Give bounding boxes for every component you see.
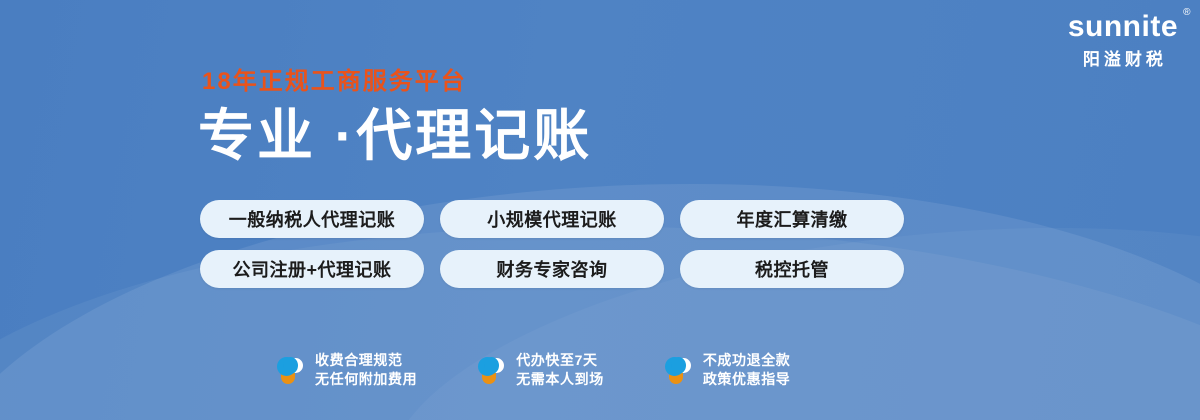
- logo-wordmark: sunnite ®: [1068, 12, 1178, 42]
- feature-line-1: 代办快至7天: [516, 351, 604, 370]
- feature-line-2: 政策优惠指导: [703, 370, 791, 389]
- eclipse-icon-crescent: [676, 358, 691, 373]
- feature-text: 不成功退全款 政策优惠指导: [703, 351, 791, 389]
- feature-item: 代办快至7天 无需本人到场: [477, 351, 604, 389]
- feature-line-2: 无任何附加费用: [315, 370, 417, 389]
- eclipse-icon-crescent: [489, 358, 504, 373]
- registered-trademark-icon: ®: [1183, 8, 1191, 18]
- headline-block: 18年正规工商服务平台 专业 ·代理记账: [198, 70, 592, 164]
- feature-item: 不成功退全款 政策优惠指导: [664, 351, 791, 389]
- feature-line-1: 收费合理规范: [315, 351, 417, 370]
- feature-text: 代办快至7天 无需本人到场: [516, 351, 604, 389]
- eclipse-icon: [276, 354, 306, 386]
- service-pill-grid: 一般纳税人代理记账 小规模代理记账 年度汇算清缴 公司注册+代理记账 财务专家咨…: [200, 200, 904, 288]
- feature-line-1: 不成功退全款: [703, 351, 791, 370]
- headline-eyebrow: 18年正规工商服务平台: [202, 70, 592, 94]
- service-pill[interactable]: 公司注册+代理记账: [200, 250, 424, 288]
- headline-title: 专业 ·代理记账: [198, 108, 592, 164]
- feature-strip: 收费合理规范 无任何附加费用 代办快至7天 无需本人到场 不成功退全款: [276, 351, 790, 389]
- feature-text: 收费合理规范 无任何附加费用: [315, 351, 417, 389]
- logo-chinese-name: 阳溢财税: [1068, 51, 1178, 68]
- service-pill[interactable]: 税控托管: [680, 250, 904, 288]
- service-pill[interactable]: 年度汇算清缴: [680, 200, 904, 238]
- logo-wordmark-text: sunnite: [1068, 10, 1178, 43]
- service-pill[interactable]: 小规模代理记账: [440, 200, 664, 238]
- brand-logo[interactable]: sunnite ® 阳溢财税: [1068, 12, 1178, 68]
- eclipse-icon-crescent: [288, 358, 303, 373]
- feature-line-2: 无需本人到场: [516, 370, 604, 389]
- eclipse-icon: [664, 354, 694, 386]
- feature-item: 收费合理规范 无任何附加费用: [276, 351, 417, 389]
- service-pill[interactable]: 财务专家咨询: [440, 250, 664, 288]
- service-pill[interactable]: 一般纳税人代理记账: [200, 200, 424, 238]
- eclipse-icon: [477, 354, 507, 386]
- promo-banner: sunnite ® 阳溢财税 18年正规工商服务平台 专业 ·代理记账 一般纳税…: [0, 0, 1200, 420]
